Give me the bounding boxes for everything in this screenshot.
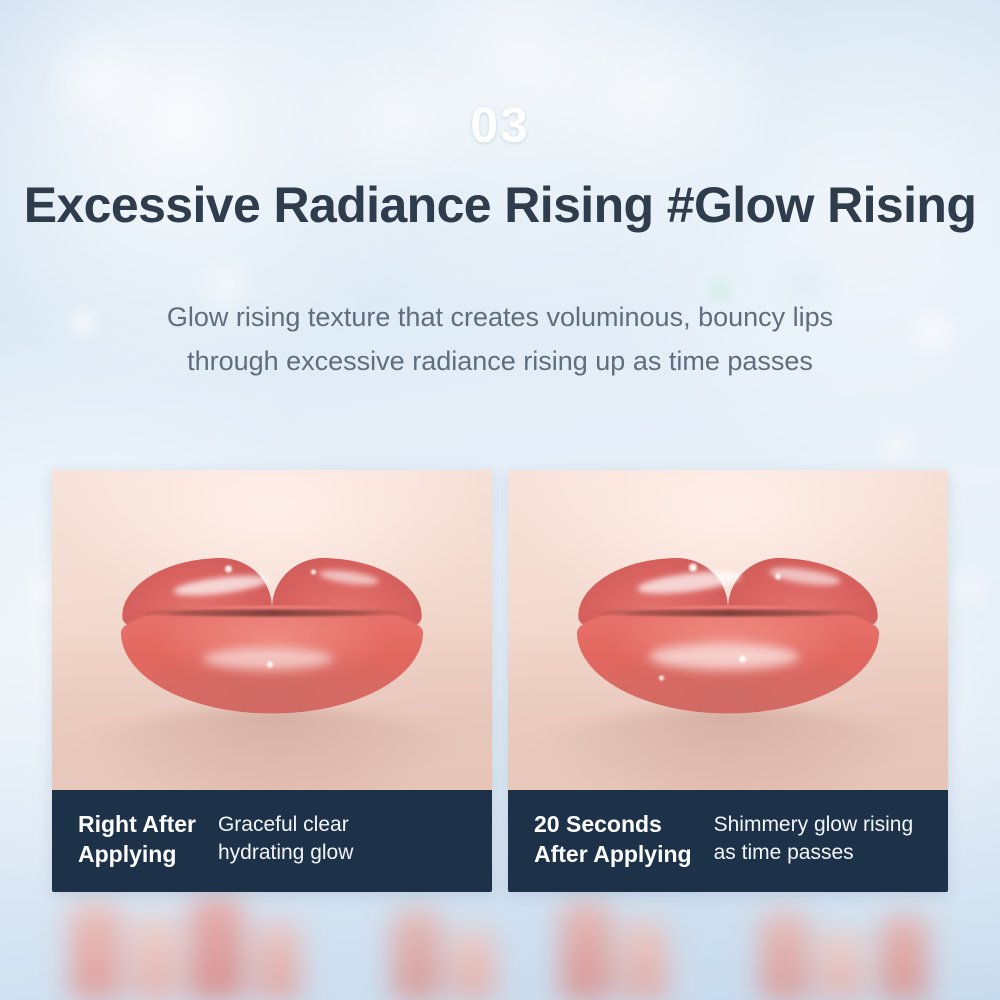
comparison-panels: Right After Applying Graceful clear hydr… [52, 470, 948, 892]
panel-caption: Right After Applying Graceful clear hydr… [52, 790, 492, 892]
lips-illustration [107, 544, 437, 729]
sparkle-dot [775, 574, 781, 580]
page-subcopy: Glow rising texture that creates volumin… [0, 296, 1000, 383]
lips-illustration [563, 544, 893, 729]
sparkle-dot [739, 656, 746, 663]
gloss-highlight [649, 644, 799, 670]
caption-title: 20 Seconds After Applying [534, 810, 692, 870]
promo-page: 03 Excessive Radiance Rising #Glow Risin… [0, 0, 1000, 1000]
caption-description: Graceful clear hydrating glow [218, 810, 353, 866]
lip-line [589, 610, 869, 617]
page-title: Excessive Radiance Rising #Glow Rising [0, 176, 1000, 234]
sparkle-dot [659, 676, 664, 681]
lip-photo-20-seconds [508, 470, 948, 790]
bokeh-circle [940, 560, 996, 616]
caption-title: Right After Applying [78, 810, 196, 870]
sparkle-dot [267, 662, 273, 668]
step-number: 03 [0, 96, 1000, 154]
lip-line [133, 610, 413, 617]
sparkle-dot [225, 566, 232, 573]
comparison-panel-20-seconds: 20 Seconds After Applying Shimmery glow … [508, 470, 948, 892]
lip-photo-right-after [52, 470, 492, 790]
bokeh-circle [870, 420, 922, 472]
sparkle-dot [311, 570, 316, 575]
panel-caption: 20 Seconds After Applying Shimmery glow … [508, 790, 948, 892]
caption-description: Shimmery glow rising as time passes [714, 810, 914, 866]
subcopy-line-2: through excessive radiance rising up as … [0, 340, 1000, 384]
bokeh-circle [520, 0, 780, 190]
sparkle-dot [689, 564, 697, 572]
comparison-panel-right-after: Right After Applying Graceful clear hydr… [52, 470, 492, 892]
subcopy-line-1: Glow rising texture that creates volumin… [0, 296, 1000, 340]
